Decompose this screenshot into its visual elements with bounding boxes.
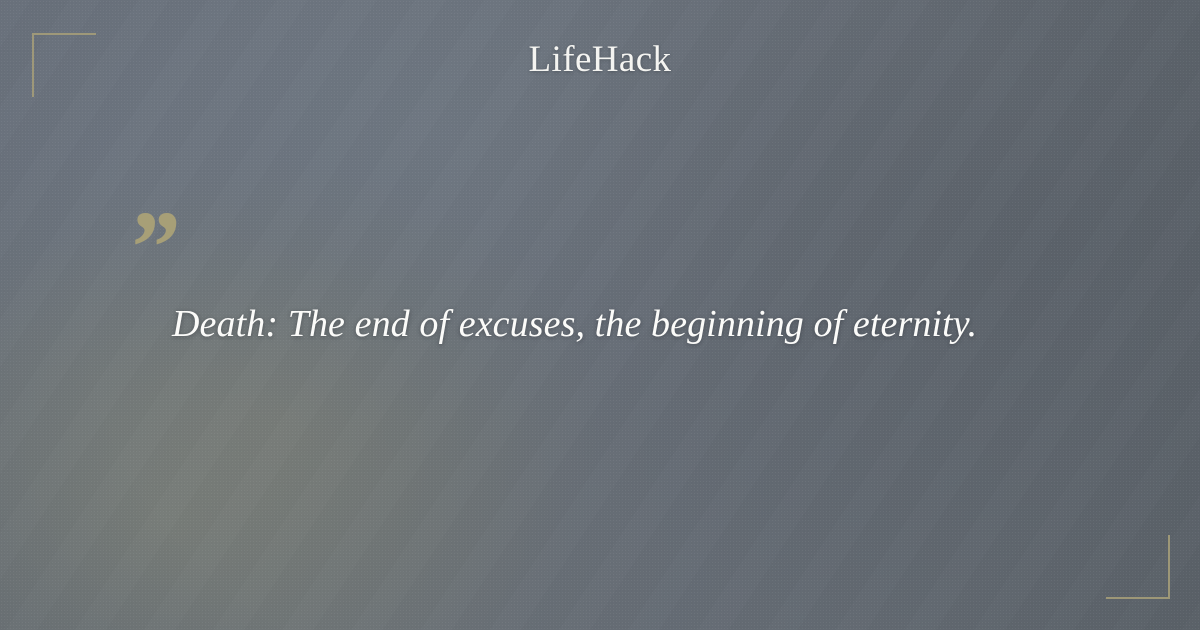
quote-text: Death: The end of excuses, the beginning… [172, 299, 1062, 349]
quote-mark-icon: ” [126, 196, 179, 300]
corner-bracket-bottom-right-icon [1106, 535, 1170, 599]
quote-card: LifeHack ” Death: The end of excuses, th… [0, 0, 1200, 630]
brand-logo: LifeHack [0, 38, 1200, 82]
